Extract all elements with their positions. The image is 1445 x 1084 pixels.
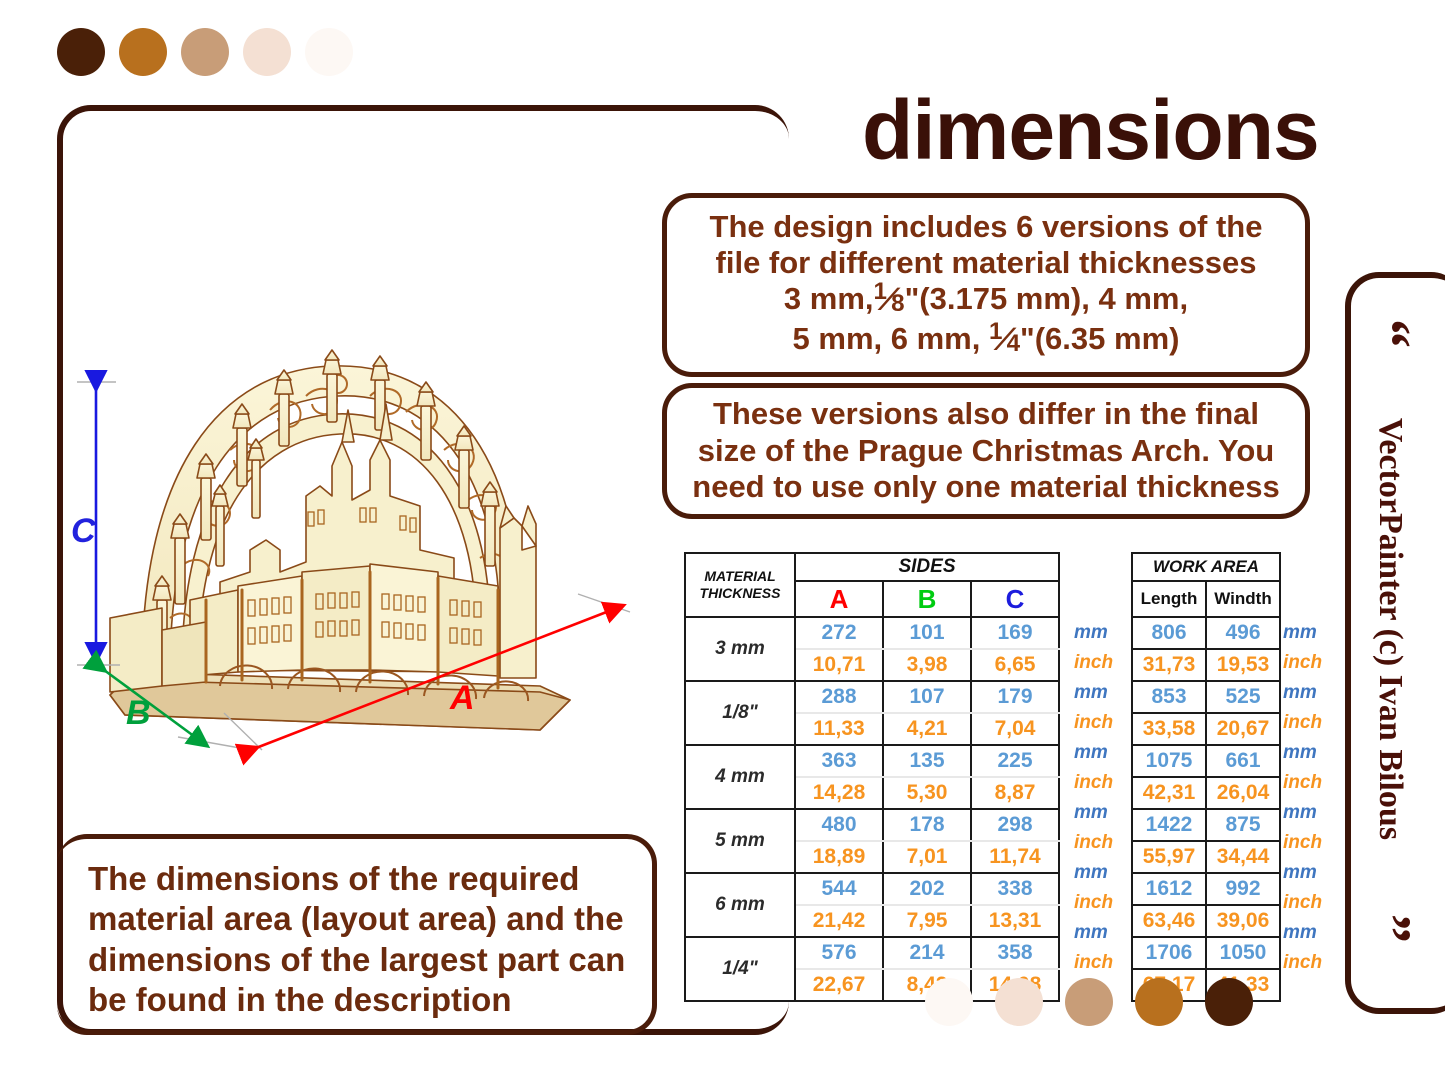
cell-thickness: 5 mm bbox=[685, 809, 795, 873]
palette-swatch bbox=[995, 978, 1043, 1026]
cell-c-inch: 13,31 bbox=[971, 905, 1059, 937]
unit-inch: inch bbox=[1273, 768, 1335, 798]
table-header-row-lw: Length Windth bbox=[1132, 581, 1280, 617]
table-row: 853525 bbox=[1132, 681, 1280, 713]
cell-a-mm: 544 bbox=[795, 873, 883, 905]
cell-width-mm: 496 bbox=[1206, 617, 1280, 649]
cell-a-mm: 480 bbox=[795, 809, 883, 841]
callout-versions-line2: file for different material thicknesses bbox=[710, 245, 1263, 281]
cell-b-mm: 214 bbox=[883, 937, 971, 969]
sides-unit-labels: mm inch mm inch mm inch mm inch mm inch … bbox=[1064, 618, 1126, 978]
unit-mm: mm bbox=[1064, 798, 1126, 828]
unit-mm: mm bbox=[1273, 798, 1335, 828]
cell-length-inch: 31,73 bbox=[1132, 649, 1206, 681]
table-row: 1075661 bbox=[1132, 745, 1280, 777]
table-row: 806496 bbox=[1132, 617, 1280, 649]
unit-inch: inch bbox=[1064, 888, 1126, 918]
unit-mm: mm bbox=[1273, 858, 1335, 888]
unit-mm: mm bbox=[1064, 738, 1126, 768]
cell-thickness: 1/4" bbox=[685, 937, 795, 1001]
table-row: 1/8" 288 107 179 bbox=[685, 681, 1070, 713]
header-side-a: A bbox=[795, 581, 883, 617]
unit-inch: inch bbox=[1064, 828, 1126, 858]
cell-a-mm: 576 bbox=[795, 937, 883, 969]
callout-description-line3: dimensions of the largest part can bbox=[88, 940, 652, 980]
callout-versions: The design includes 6 versions of the fi… bbox=[662, 193, 1310, 377]
cell-width-mm: 1050 bbox=[1206, 937, 1280, 969]
callout-versions-line3: 3 mm,1⁄8"(3.175 mm), 4 mm, bbox=[710, 281, 1263, 321]
unit-inch: inch bbox=[1273, 828, 1335, 858]
callout-sizes-line3: need to use only one material thickness bbox=[692, 469, 1279, 506]
cell-a-mm: 272 bbox=[795, 617, 883, 649]
cell-b-mm: 178 bbox=[883, 809, 971, 841]
table-row: 4 mm 363 135 225 bbox=[685, 745, 1070, 777]
cell-length-mm: 1422 bbox=[1132, 809, 1206, 841]
unit-mm: mm bbox=[1273, 618, 1335, 648]
cell-c-mm: 298 bbox=[971, 809, 1059, 841]
palette-swatch bbox=[1205, 978, 1253, 1026]
cell-b-mm: 101 bbox=[883, 617, 971, 649]
unit-mm: mm bbox=[1273, 678, 1335, 708]
unit-inch: inch bbox=[1064, 948, 1126, 978]
table-row: 17061050 bbox=[1132, 937, 1280, 969]
callout-description-line4: be found in the description bbox=[88, 980, 652, 1020]
callout-sizes: These versions also differ in the final … bbox=[662, 383, 1310, 519]
cell-c-mm: 338 bbox=[971, 873, 1059, 905]
header-material-thickness: MATERIALTHICKNESS bbox=[685, 553, 795, 617]
callout-versions-line4: 5 mm, 6 mm, 1⁄4"(6.35 mm) bbox=[710, 321, 1263, 361]
cell-b-inch: 3,98 bbox=[883, 649, 971, 681]
cell-width-mm: 875 bbox=[1206, 809, 1280, 841]
cell-a-inch: 22,67 bbox=[795, 969, 883, 1001]
cell-width-mm: 992 bbox=[1206, 873, 1280, 905]
unit-inch: inch bbox=[1064, 648, 1126, 678]
cell-b-mm: 202 bbox=[883, 873, 971, 905]
table-header-row: WORK AREA bbox=[1132, 553, 1280, 581]
dimension-label-c: C bbox=[71, 512, 96, 551]
cell-a-inch: 11,33 bbox=[795, 713, 883, 745]
unit-mm: mm bbox=[1064, 918, 1126, 948]
header-sides: SIDES bbox=[795, 553, 1059, 581]
cell-width-inch: 19,53 bbox=[1206, 649, 1280, 681]
callout-versions-line1: The design includes 6 versions of the bbox=[710, 209, 1263, 245]
cell-thickness: 4 mm bbox=[685, 745, 795, 809]
dimension-label-a: A bbox=[450, 679, 475, 718]
palette-swatch bbox=[1065, 978, 1113, 1026]
cell-c-mm: 179 bbox=[971, 681, 1059, 713]
cell-width-inch: 26,04 bbox=[1206, 777, 1280, 809]
cell-c-inch: 7,04 bbox=[971, 713, 1059, 745]
dimension-label-b: B bbox=[126, 694, 151, 733]
unit-inch: inch bbox=[1273, 648, 1335, 678]
cell-thickness: 6 mm bbox=[685, 873, 795, 937]
cell-c-inch: 8,87 bbox=[971, 777, 1059, 809]
dimension-arrows bbox=[0, 0, 700, 790]
cell-b-inch: 7,95 bbox=[883, 905, 971, 937]
header-length: Length bbox=[1132, 581, 1206, 617]
cell-thickness: 3 mm bbox=[685, 617, 795, 681]
cell-b-mm: 135 bbox=[883, 745, 971, 777]
unit-inch: inch bbox=[1064, 768, 1126, 798]
callout-description-line1: The dimensions of the required bbox=[88, 859, 652, 899]
cell-length-mm: 1706 bbox=[1132, 937, 1206, 969]
fraction-one-quarter: 1⁄4 bbox=[989, 321, 1020, 359]
cell-length-mm: 1612 bbox=[1132, 873, 1206, 905]
table-row: 42,3126,04 bbox=[1132, 777, 1280, 809]
unit-mm: mm bbox=[1064, 618, 1126, 648]
table-row: 1422875 bbox=[1132, 809, 1280, 841]
cell-thickness: 1/8" bbox=[685, 681, 795, 745]
table-row: 1/4" 576 214 358 bbox=[685, 937, 1070, 969]
table-row: 55,9734,44 bbox=[1132, 841, 1280, 873]
table-header-row: MATERIALTHICKNESS SIDES bbox=[685, 553, 1070, 581]
cell-a-mm: 288 bbox=[795, 681, 883, 713]
cell-width-inch: 34,44 bbox=[1206, 841, 1280, 873]
unit-mm: mm bbox=[1064, 858, 1126, 888]
cell-length-inch: 55,97 bbox=[1132, 841, 1206, 873]
callout-sizes-line2: size of the Prague Christmas Arch. You bbox=[692, 433, 1279, 470]
page-title: dimensions bbox=[862, 82, 1319, 179]
watermark: VectorPainter (c) Ivan Bilous bbox=[1330, 310, 1445, 950]
table-row: 1612992 bbox=[1132, 873, 1280, 905]
palette-swatch bbox=[1135, 978, 1183, 1026]
work-area-table: WORK AREA Length Windth 806496 31,7319,5… bbox=[1131, 552, 1281, 1002]
cell-b-inch: 4,21 bbox=[883, 713, 971, 745]
header-work-area: WORK AREA bbox=[1132, 553, 1280, 581]
table-row: 63,4639,06 bbox=[1132, 905, 1280, 937]
table-row: 5 mm 480 178 298 bbox=[685, 809, 1070, 841]
table-row: 3 mm 272 101 169 bbox=[685, 617, 1070, 649]
cell-a-inch: 21,42 bbox=[795, 905, 883, 937]
unit-inch: inch bbox=[1273, 708, 1335, 738]
unit-mm: mm bbox=[1064, 678, 1126, 708]
cell-a-inch: 14,28 bbox=[795, 777, 883, 809]
cell-length-inch: 33,58 bbox=[1132, 713, 1206, 745]
cell-c-mm: 358 bbox=[971, 937, 1059, 969]
unit-inch: inch bbox=[1273, 948, 1335, 978]
table-row: 31,7319,53 bbox=[1132, 649, 1280, 681]
cell-length-mm: 853 bbox=[1132, 681, 1206, 713]
header-side-c: C bbox=[971, 581, 1059, 617]
cell-length-inch: 63,46 bbox=[1132, 905, 1206, 937]
cell-b-inch: 7,01 bbox=[883, 841, 971, 873]
cell-c-mm: 225 bbox=[971, 745, 1059, 777]
cell-a-inch: 10,71 bbox=[795, 649, 883, 681]
unit-mm: mm bbox=[1273, 918, 1335, 948]
cell-b-inch: 5,30 bbox=[883, 777, 971, 809]
fraction-one-eighth: 1⁄8 bbox=[874, 281, 905, 319]
sides-table: MATERIALTHICKNESS SIDES A B C 3 mm 272 1… bbox=[684, 552, 1070, 1002]
cell-width-inch: 20,67 bbox=[1206, 713, 1280, 745]
cell-b-mm: 107 bbox=[883, 681, 971, 713]
work-area-unit-labels: mm inch mm inch mm inch mm inch mm inch … bbox=[1273, 618, 1335, 978]
unit-mm: mm bbox=[1273, 738, 1335, 768]
unit-inch: inch bbox=[1064, 708, 1126, 738]
cell-c-inch: 11,74 bbox=[971, 841, 1059, 873]
header-width: Windth bbox=[1206, 581, 1280, 617]
callout-description-line2: material area (layout area) and the bbox=[88, 899, 652, 939]
cell-length-mm: 806 bbox=[1132, 617, 1206, 649]
palette-swatch bbox=[925, 978, 973, 1026]
cell-length-inch: 42,31 bbox=[1132, 777, 1206, 809]
cell-width-inch: 39,06 bbox=[1206, 905, 1280, 937]
unit-inch: inch bbox=[1273, 888, 1335, 918]
palette-bottom bbox=[925, 978, 1253, 1026]
cell-a-inch: 18,89 bbox=[795, 841, 883, 873]
cell-c-mm: 169 bbox=[971, 617, 1059, 649]
cell-length-mm: 1075 bbox=[1132, 745, 1206, 777]
cell-width-mm: 525 bbox=[1206, 681, 1280, 713]
header-side-b: B bbox=[883, 581, 971, 617]
callout-description: The dimensions of the required material … bbox=[57, 834, 657, 1035]
watermark-text: VectorPainter (c) Ivan Bilous bbox=[1371, 309, 1409, 949]
cell-width-mm: 661 bbox=[1206, 745, 1280, 777]
cell-a-mm: 363 bbox=[795, 745, 883, 777]
cell-c-inch: 6,65 bbox=[971, 649, 1059, 681]
table-row: 6 mm 544 202 338 bbox=[685, 873, 1070, 905]
table-row: 33,5820,67 bbox=[1132, 713, 1280, 745]
callout-sizes-line1: These versions also differ in the final bbox=[692, 396, 1279, 433]
